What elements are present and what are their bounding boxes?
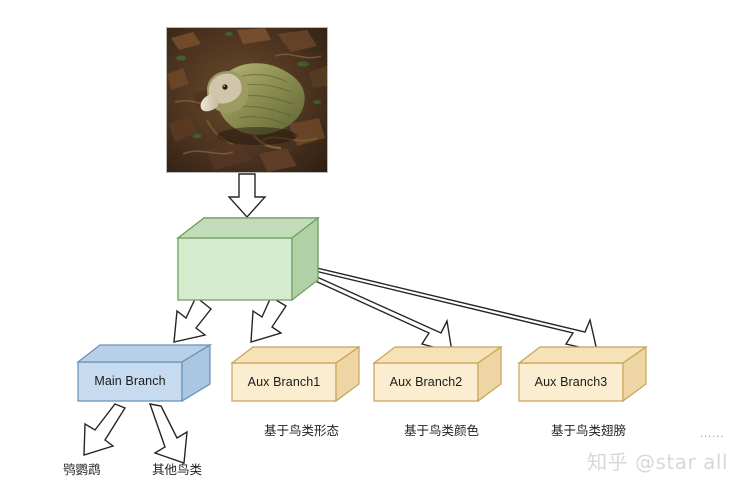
arrow-main-to-kakapo: [84, 404, 125, 455]
arrow-main-to-other-birds: [150, 404, 187, 463]
aux-branch-2-label: Aux Branch2: [374, 375, 478, 389]
arrow-backbone-to-aux1: [251, 297, 286, 342]
arrow-backbone-to-aux2: [311, 271, 452, 352]
aux-branch-1-label: Aux Branch1: [232, 375, 336, 389]
ellipsis-label: ......: [700, 428, 724, 440]
backbone-block[interactable]: [178, 218, 318, 300]
aux-branch-3-label: Aux Branch3: [519, 375, 623, 389]
aux-branch-1-box[interactable]: Aux Branch1: [232, 346, 360, 402]
leaf-other-birds-label: 其他鸟类: [152, 459, 202, 478]
leaf-kakapo-label: 鸮鹦鹉: [63, 459, 101, 478]
arrow-layer: [0, 0, 740, 486]
aux-branch-2-caption: 基于鸟类颜色: [404, 420, 479, 439]
aux-branch-3-box[interactable]: Aux Branch3: [519, 346, 647, 402]
arrow-backbone-to-aux3: [311, 262, 597, 351]
aux-branch-1-caption: 基于鸟类形态: [264, 420, 339, 439]
kakapo-photo-art: [167, 28, 327, 172]
main-branch-label: Main Branch: [78, 374, 182, 388]
arrow-photo-to-backbone: [229, 174, 265, 217]
kakapo-photo: [166, 27, 328, 173]
main-branch-box[interactable]: Main Branch: [78, 344, 211, 402]
zhihu-watermark: 知乎 @star all: [587, 446, 728, 475]
aux-branch-3-caption: 基于鸟类翅膀: [551, 420, 626, 439]
diagram-canvas: Main Branch Aux Branch1 Aux Branch2 Aux …: [0, 0, 740, 486]
aux-branch-2-box[interactable]: Aux Branch2: [374, 346, 502, 402]
arrow-backbone-to-main-branch: [174, 297, 211, 342]
